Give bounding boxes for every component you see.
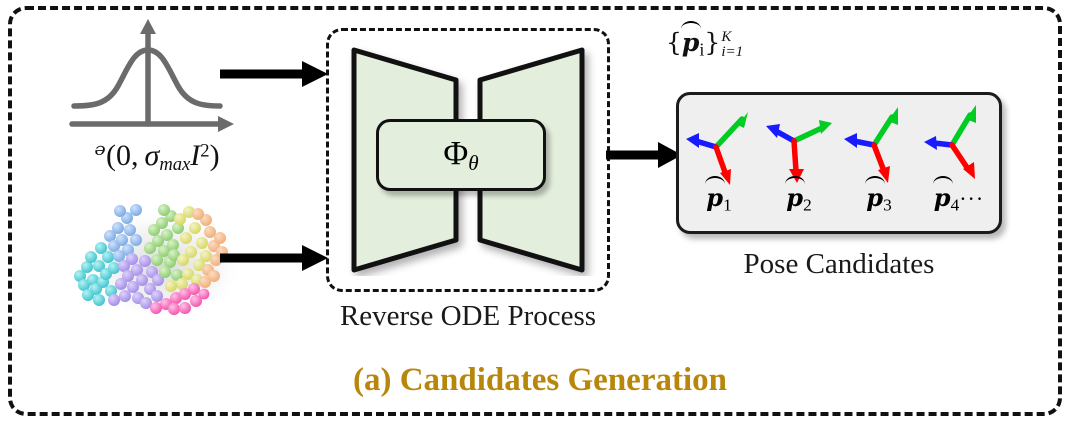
pose-set-notation: {𝒑i}Ki=1 (666, 28, 743, 61)
coordinate-frame-icon (922, 101, 996, 187)
coordinate-frame-icon (682, 101, 756, 187)
arrow-ode-to-poses (604, 139, 684, 176)
pose-candidate-1: 𝒑1 (682, 101, 756, 215)
diagram-canvas: ᵊ(0, σmaxI2) (0, 0, 1080, 429)
pose-1-index: 1 (723, 195, 732, 214)
formula-identity: I (190, 139, 200, 172)
phi-symbol: Φ (443, 135, 468, 172)
pose-candidates-box: 𝒑1 𝒑2 (676, 92, 1002, 234)
formula-sigma: σ (145, 139, 160, 172)
formula-close-paren: ) (210, 139, 220, 172)
set-upper-limit: K (721, 30, 743, 45)
pose-3-index: 3 (883, 195, 892, 214)
pose-4-symbol: 𝒑 (934, 183, 951, 213)
formula-calligraphic-n: ᵊ (94, 138, 106, 173)
noise-distribution-formula: ᵊ(0, σmaxI2) (34, 138, 280, 176)
set-symbol-p-hat: 𝒑 (682, 28, 699, 58)
coordinate-frame-icon (842, 101, 916, 187)
pose-candidate-4: 𝒑4··· (922, 101, 996, 215)
set-close-brace: } (704, 28, 720, 57)
pose-1-symbol: 𝒑 (706, 183, 723, 213)
pose-candidates-caption: Pose Candidates (676, 248, 1002, 281)
pose-candidate-3-label: 𝒑3 (866, 183, 891, 215)
formula-sigma-subscript: max (159, 154, 190, 175)
formula-identity-exponent: 2 (200, 141, 209, 162)
phi-subscript-theta: θ (468, 150, 478, 174)
formula-open-paren: (0, (106, 139, 145, 172)
pose-candidate-2-label: 𝒑2 (786, 183, 811, 215)
model-phi-box: Φθ (376, 119, 546, 191)
pose-2-index: 2 (803, 195, 812, 214)
pose-candidate-1-label: 𝒑1 (706, 183, 731, 215)
coordinate-frame-icon (762, 101, 836, 187)
arrow-pointcloud-to-ode (218, 242, 330, 279)
model-phi-label: Φθ (443, 137, 478, 174)
set-open-brace: { (666, 28, 682, 57)
pose-frames-row: 𝒑1 𝒑2 (679, 95, 999, 231)
pose-candidate-4-label: 𝒑4··· (934, 183, 984, 215)
pose-list-ellipsis: ··· (959, 186, 984, 211)
panel-title: (a) Candidates Generation (0, 362, 1080, 399)
pose-candidate-3: 𝒑3 (842, 101, 916, 215)
set-lower-limit: i=1 (721, 45, 743, 60)
pose-2-symbol: 𝒑 (786, 183, 803, 213)
reverse-ode-caption: Reverse ODE Process (296, 300, 640, 333)
pose-3-symbol: 𝒑 (866, 183, 883, 213)
arrow-noise-to-ode (218, 58, 330, 95)
pose-4-index: 4 (951, 195, 960, 214)
pose-candidate-2: 𝒑2 (762, 101, 836, 215)
set-limits: Ki=1 (721, 30, 743, 61)
